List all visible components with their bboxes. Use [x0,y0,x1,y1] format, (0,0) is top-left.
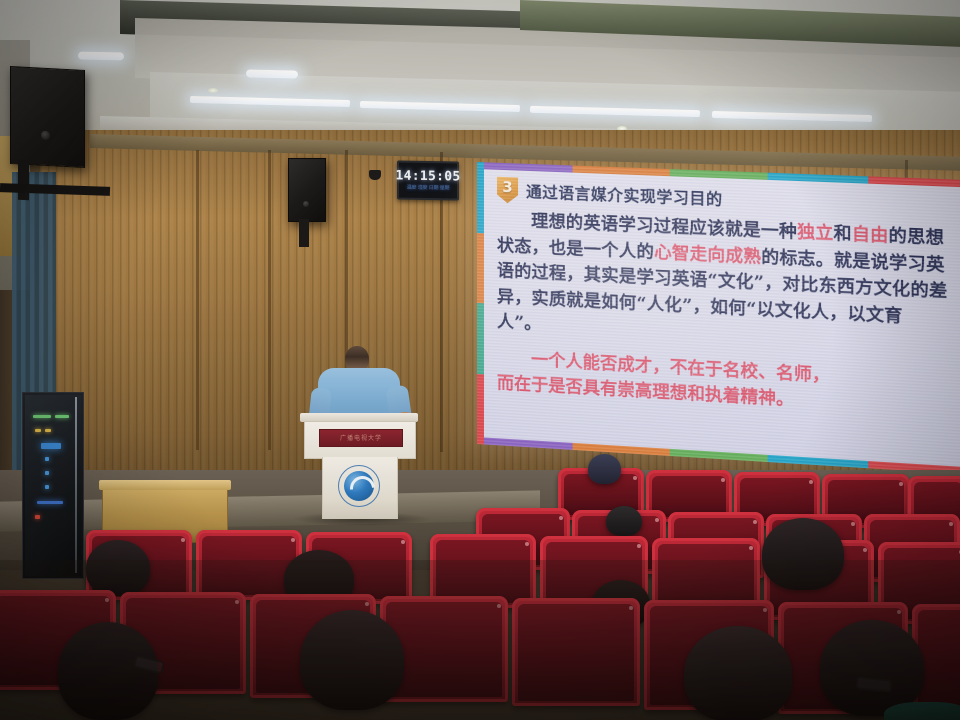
slide-number: 3 [502,177,512,197]
presentation-slide: 3 通过语言媒介实现学习目的 理想的英语学习过程应该就是一种独立和自由的思想状态… [477,162,960,475]
slide-title: 通过语言媒介实现学习目的 [526,180,723,210]
slide-highlight-text: 独立 [797,222,833,244]
wall-seam [268,150,271,450]
wall-seam [196,150,199,450]
clock-subtext: 温度 湿度 日期 星期 [407,186,450,192]
slide-plain-text: 和 [834,224,852,245]
rack-led-indicator [55,415,69,418]
slide-paragraph: 理想的英语学习过程应该就是一种独立和自由的思想状态，也是一个人的心智走向成熟的标… [497,208,948,359]
audience-head [588,454,621,484]
wall-speaker-left [10,66,85,168]
slide-number-badge: 3 [497,177,518,204]
security-camera-icon [369,170,381,180]
slide-body-text: 理想的英语学习过程应该就是一种独立和自由的思想状态，也是一个人的心智走向成熟的标… [497,208,948,363]
speaker-cone-icon [303,201,309,207]
speaker-mount-left [18,160,29,201]
audience-head [606,506,642,536]
rack-led-indicator [33,415,51,418]
slide-highlight-text: 自由 [852,224,889,246]
clock-time: 14:15:05 [396,169,461,183]
ceiling-light-icon [78,52,124,61]
speaker-cone-icon [41,131,50,140]
wall-clock-display: 14:15:05 温度 湿度 日期 星期 [397,160,459,200]
ceiling-light-icon [246,69,298,78]
projection-screen: 3 通过语言媒介实现学习目的 理想的英语学习过程应该就是一种独立和自由的思想状态… [477,162,960,475]
slide-border-left [477,162,484,444]
slide-highlight-text: 心智走向成熟 [654,242,761,267]
wall-speaker-center [288,158,326,222]
floor-shading [0,560,960,720]
downlight-icon [208,88,218,93]
speaker-mount-center [299,219,309,247]
auditorium-scene: 14:15:05 温度 湿度 日期 星期 [0,0,960,720]
